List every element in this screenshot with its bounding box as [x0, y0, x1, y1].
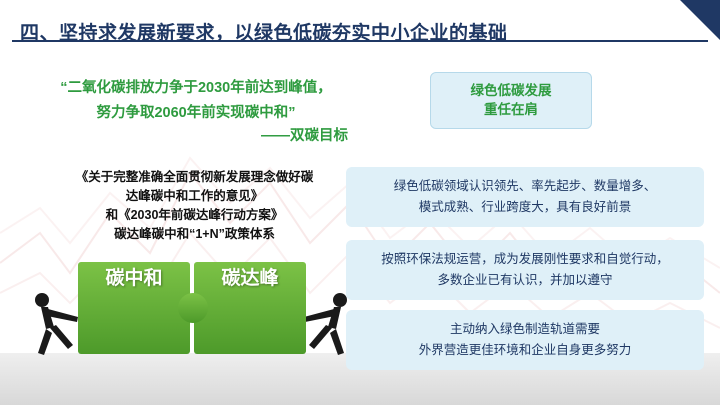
puzzle-knob	[178, 293, 208, 323]
quote-line-1: “二氧化碳排放力争于2030年前达到峰值，	[26, 76, 366, 101]
policy-line-4: 碳达峰碳中和“1+N”政策体系	[22, 225, 367, 244]
info-card-3-line-1: 主动纳入绿色制造轨道需要	[356, 319, 694, 340]
info-card-1: 绿色低碳领域认识领先、率先起步、数量增多、 模式成熟、行业跨度大，具有良好前景	[346, 167, 704, 227]
info-card-3: 主动纳入绿色制造轨道需要 外界营造更佳环境和企业自身更多努力	[346, 310, 704, 370]
badge-line-1: 绿色低碳发展	[431, 81, 591, 100]
slide-title-bar: 四、坚持求发展新要求，以绿色低碳夯实中小企业的基础	[0, 8, 720, 44]
puzzle-graphic: 碳中和 碳达峰	[78, 262, 306, 354]
badge-line-2: 重任在肩	[431, 100, 591, 119]
slide-root: 四、坚持求发展新要求，以绿色低碳夯实中小企业的基础 “二氧化碳排放力争于2030…	[0, 0, 720, 405]
policy-line-2: 达峰碳中和工作的意见》	[22, 187, 367, 206]
policy-line-1: 《关于完整准确全面贯彻新发展理念做好碳	[22, 168, 367, 187]
info-card-3-line-2: 外界营造更佳环境和企业自身更多努力	[356, 340, 694, 361]
policy-line-3: 和《2030年前碳达峰行动方案》	[22, 206, 367, 225]
policy-document-block: 《关于完整准确全面贯彻新发展理念做好碳 达峰碳中和工作的意见》 和《2030年前…	[22, 168, 367, 244]
puzzle-label-left: 碳中和	[78, 265, 190, 293]
quote-attribution: ——双碳目标	[26, 124, 366, 145]
quote-line-2: 努力争取2060年前实现碳中和”	[26, 101, 366, 126]
title-underline	[12, 40, 708, 42]
puzzle-label-right: 碳达峰	[194, 265, 306, 293]
green-development-badge: 绿色低碳发展 重任在肩	[430, 72, 592, 129]
carbon-goal-quote: “二氧化碳排放力争于2030年前达到峰值， 努力争取2060年前实现碳中和”	[26, 76, 366, 126]
info-card-2-line-2: 多数企业已有认识，并加以遵守	[356, 270, 694, 291]
info-card-2: 按照环保法规运营，成为发展刚性要求和自觉行动， 多数企业已有认识，并加以遵守	[346, 240, 704, 300]
info-card-2-line-1: 按照环保法规运营，成为发展刚性要求和自觉行动，	[356, 249, 694, 270]
info-card-1-line-2: 模式成熟、行业跨度大，具有良好前景	[356, 197, 694, 218]
info-card-1-line-1: 绿色低碳领域认识领先、率先起步、数量增多、	[356, 176, 694, 197]
